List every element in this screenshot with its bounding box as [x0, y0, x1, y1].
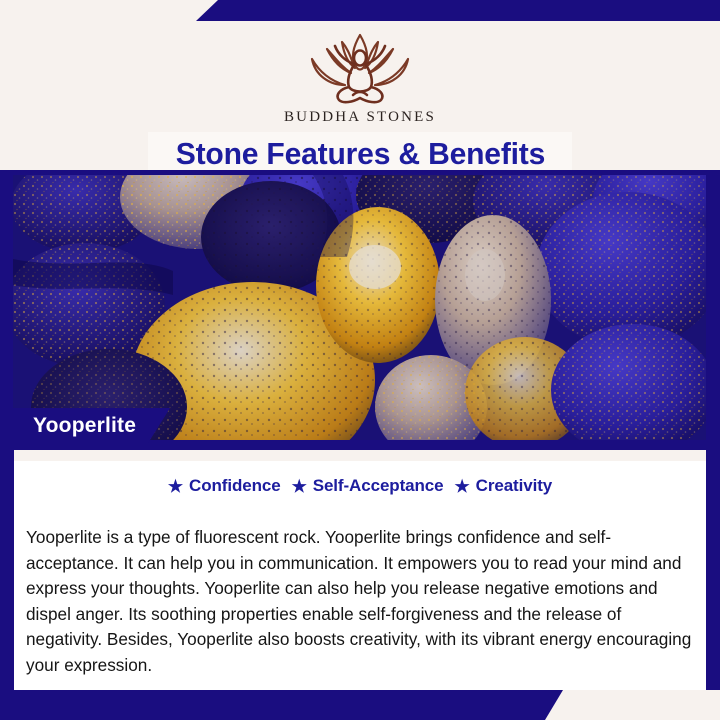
bottom-accent-cut: [545, 690, 720, 720]
top-accent-banner: [196, 0, 720, 21]
benefit-label: Self-Acceptance: [313, 476, 444, 496]
star-icon: ★: [168, 478, 183, 495]
benefit-label: Creativity: [476, 476, 552, 496]
star-icon: ★: [455, 478, 470, 495]
lotus-meditation-icon: [285, 29, 435, 107]
stone-feature-poster: BUDDHA STONES Stone Features & Benefits: [0, 0, 720, 720]
stone-name-tag: Yooperlite: [13, 408, 170, 443]
star-icon: ★: [292, 478, 307, 495]
page-title: Stone Features & Benefits: [175, 136, 544, 172]
benefit-item-self-acceptance: ★ Self-Acceptance: [292, 476, 444, 496]
brand-name: BUDDHA STONES: [284, 109, 436, 126]
benefit-label: Confidence: [189, 476, 281, 496]
benefits-list: ★ Confidence ★ Self-Acceptance ★ Creativ…: [14, 476, 706, 496]
card-top-strip: [14, 450, 706, 461]
benefit-item-confidence: ★ Confidence: [168, 476, 281, 496]
stone-description-card: ★ Confidence ★ Self-Acceptance ★ Creativ…: [14, 450, 706, 690]
stone-description-text: Yooperlite is a type of fluorescent rock…: [26, 525, 702, 678]
navy-right-edge: [706, 170, 720, 690]
yooperlite-stones-photo: [13, 175, 706, 440]
stone-name: Yooperlite: [33, 414, 136, 438]
benefit-item-creativity: ★ Creativity: [455, 476, 553, 496]
page-title-bar: Stone Features & Benefits: [148, 132, 572, 175]
